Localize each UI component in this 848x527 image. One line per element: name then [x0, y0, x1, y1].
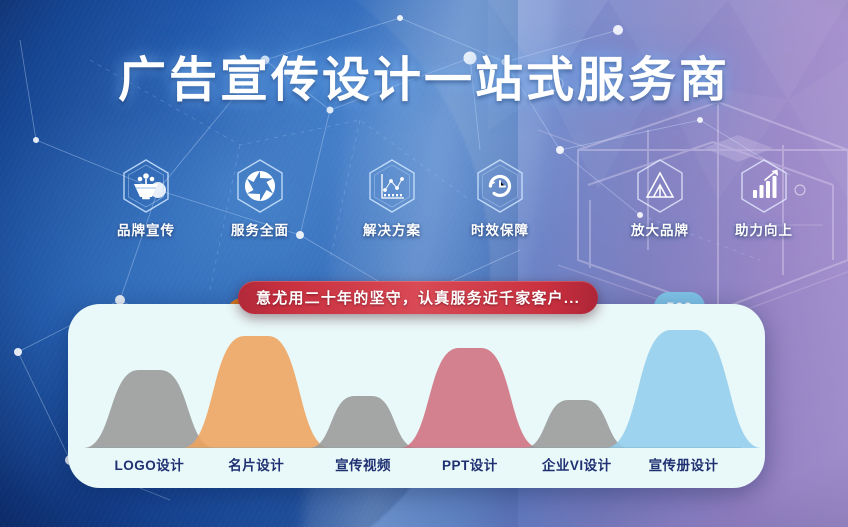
- slogan-text: 意尤用二十年的坚守，认真服务近千家客户...: [256, 287, 580, 308]
- chart-baseline: [92, 447, 741, 448]
- feature-item-brand-promotion[interactable]: 品牌宣传: [100, 155, 192, 239]
- triangle-hex-icon: [614, 155, 706, 217]
- feature-icon-row: 品牌宣传 服务全面: [56, 155, 796, 250]
- feature-label: 品牌宣传: [100, 219, 192, 239]
- chart-category-label: 宣传册设计: [630, 454, 737, 474]
- feature-label: 服务全面: [214, 219, 306, 239]
- line-chart-hex-icon: [346, 155, 438, 217]
- megaphone-hex-icon: [100, 155, 192, 217]
- poster-canvas: 广告宣传设计一站式服务商: [0, 0, 848, 527]
- chart-category-label: 企业VI设计: [523, 454, 630, 474]
- chart-category-label: LOGO设计: [96, 454, 203, 474]
- aperture-hex-icon: [214, 155, 306, 217]
- chart-category-label: 名片设计: [203, 454, 310, 474]
- chart-category-label: PPT设计: [417, 454, 524, 474]
- feature-item-solution[interactable]: 解决方案: [346, 155, 438, 239]
- feature-item-amplify-brand[interactable]: 放大品牌: [614, 155, 706, 239]
- feature-item-full-service[interactable]: 服务全面: [214, 155, 306, 239]
- feature-label: 放大品牌: [614, 219, 706, 239]
- chart-area-3: [400, 348, 540, 448]
- chart-category-labels: LOGO设计名片设计宣传视频PPT设计企业VI设计宣传册设计: [68, 454, 765, 478]
- bar-chart-arrow-hex-icon: [718, 155, 810, 217]
- feature-label: 助力向上: [718, 219, 810, 239]
- feature-item-timeliness[interactable]: 时效保障: [454, 155, 546, 239]
- feature-item-boost-upward[interactable]: 助力向上: [718, 155, 810, 239]
- chart-area-1: [182, 336, 330, 448]
- page-title: 广告宣传设计一站式服务商: [0, 56, 848, 106]
- feature-label: 解决方案: [346, 219, 438, 239]
- slogan-banner: 意尤用二十年的坚守，认真服务近千家客户...: [238, 281, 598, 314]
- chart-area-4: [524, 400, 630, 448]
- chart-area-0: [83, 370, 215, 448]
- feature-label: 时效保障: [454, 219, 546, 239]
- clock-history-hex-icon: [454, 155, 546, 217]
- chart-area-5: [605, 330, 761, 448]
- chart-area-2: [309, 396, 418, 448]
- chart-panel: LOGO设计名片设计宣传视频PPT设计企业VI设计宣传册设计: [68, 304, 765, 488]
- chart-category-label: 宣传视频: [310, 454, 417, 474]
